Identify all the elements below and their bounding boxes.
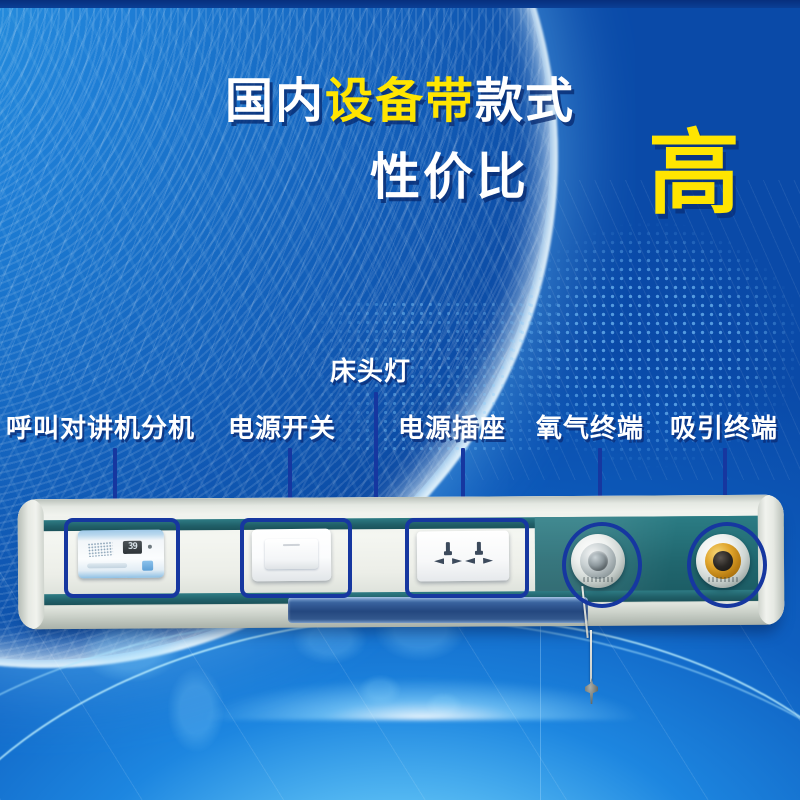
vertical-grid-line bbox=[540, 620, 541, 800]
highlight-ellipse-suction bbox=[687, 522, 767, 608]
highlight-ellipse-oxygen bbox=[562, 522, 642, 608]
callout-label-power-socket: 电源插座 bbox=[398, 415, 506, 441]
headline-line-2-row: 性价比 高 bbox=[0, 150, 800, 226]
product-banner: 国内设备带款式 性价比 高 呼叫对讲机分机 电源开关 床头灯 电源插座 氧气终端… bbox=[0, 0, 800, 800]
highlight-box-power-switch bbox=[240, 518, 352, 598]
headline-line-2-highlight: 高 bbox=[648, 128, 740, 220]
callout-label-power-switch: 电源开关 bbox=[228, 415, 336, 441]
headline-block: 国内设备带款式 性价比 高 bbox=[0, 78, 800, 226]
headline-line1-part1: 国内 bbox=[225, 75, 325, 128]
callout-label-bed-lamp: 床头灯 bbox=[330, 358, 411, 384]
headline-line-2: 性价比 bbox=[370, 152, 529, 202]
headline-line-1: 国内设备带款式 bbox=[0, 78, 800, 126]
bar-endcap-left bbox=[18, 499, 45, 629]
top-edge-band bbox=[0, 0, 800, 8]
bed-lamp-diffuser[interactable] bbox=[288, 597, 588, 623]
highlight-box-intercom bbox=[64, 518, 180, 598]
bar-top-bevel bbox=[18, 495, 784, 517]
headline-line1-part2: 款式 bbox=[475, 75, 575, 128]
callout-label-suction: 吸引终端 bbox=[670, 415, 778, 441]
headline-line1-highlight: 设备带 bbox=[325, 75, 475, 128]
callout-label-intercom: 呼叫对讲机分机 bbox=[6, 415, 195, 441]
highlight-box-power-socket bbox=[405, 518, 529, 598]
callout-label-oxygen: 氧气终端 bbox=[536, 415, 644, 441]
pull-cord-lower[interactable] bbox=[590, 630, 592, 682]
